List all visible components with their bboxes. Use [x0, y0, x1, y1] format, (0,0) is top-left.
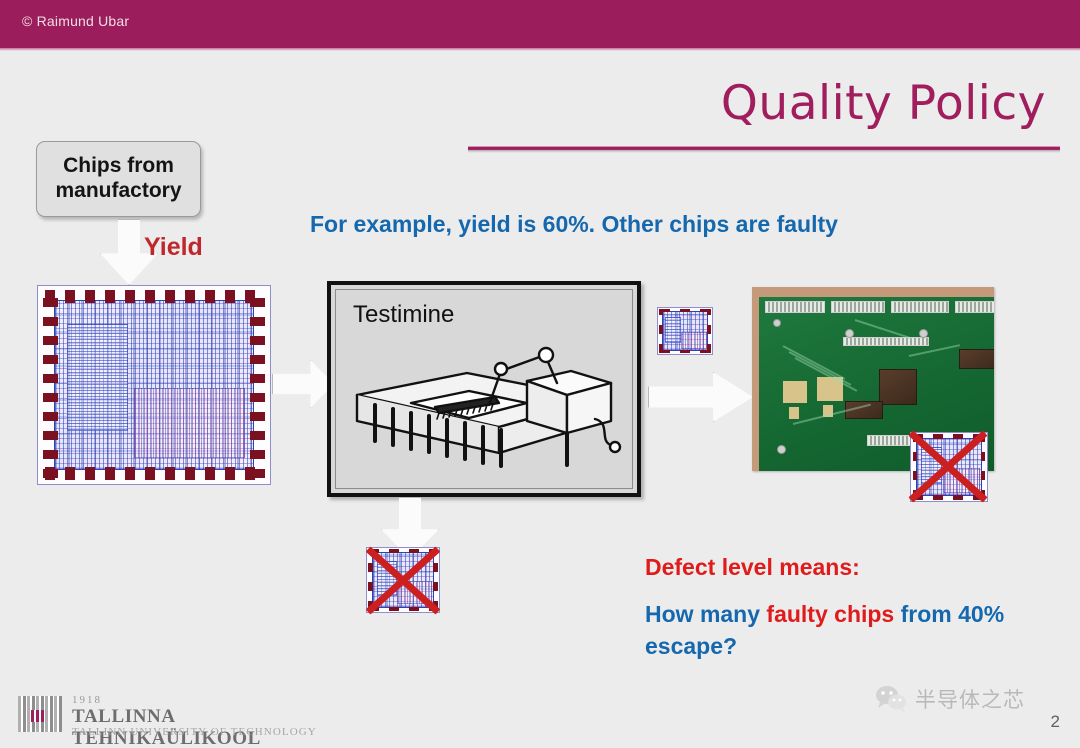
tested-die-pads-top: [660, 309, 711, 312]
header-underline: [0, 48, 1080, 51]
question-part-1: How many: [645, 601, 766, 627]
pcb-connector: [955, 301, 994, 313]
pcb-trace: [909, 344, 960, 357]
tested-die-pads-bottom: [660, 350, 711, 353]
yield-label: Yield: [144, 233, 203, 262]
pcb-mount-hole: [845, 329, 854, 338]
wechat-watermark: 半导体之芯: [875, 682, 1025, 716]
pcb-trace: [783, 345, 846, 380]
escaped-die-pads-bottom: [913, 495, 984, 499]
tested-chip-die-image: [657, 307, 713, 355]
die-pads-right: [250, 292, 265, 478]
die-pads-top: [45, 290, 263, 303]
test-machine-panel: Testimine: [327, 281, 641, 497]
escaped-die-pads-right: [981, 435, 986, 499]
rejected-chip-die-image: [366, 547, 440, 613]
die-pads-bottom: [45, 467, 263, 480]
pcb-jack: [789, 407, 799, 419]
pcb-mount-hole: [919, 329, 928, 338]
pcb-ic: [959, 349, 994, 369]
pcb-connector: [765, 301, 825, 313]
copyright-text: © Raimund Ubar: [22, 13, 129, 29]
tested-die-core: [662, 311, 708, 351]
header-band: [0, 0, 1080, 48]
chips-from-manufactory-box: Chips from manufactory: [36, 141, 201, 217]
die-core-layout: [54, 300, 254, 470]
defect-level-heading: Defect level means:: [645, 554, 860, 581]
wechat-account-name: 半导体之芯: [915, 684, 1025, 714]
title-divider-rule: [468, 146, 1060, 153]
page-title: Quality Policy: [721, 76, 1046, 131]
university-year: 1918: [72, 694, 102, 706]
logo-bars-icon: [18, 696, 62, 732]
defect-level-question: How many faulty chips from 40% escape?: [645, 598, 1005, 662]
pcb-main-ic: [879, 369, 917, 405]
pcb-mount-hole: [773, 319, 781, 327]
tested-die-pads-right: [707, 309, 711, 352]
rejected-die-pads-right: [433, 550, 438, 610]
slide-canvas: © Raimund Ubar Quality Policy Chips from…: [0, 0, 1080, 748]
escaped-die-core: [916, 438, 981, 497]
question-highlight: faulty chips: [766, 601, 894, 627]
chips-from-manufactory-label: Chips from manufactory: [37, 154, 200, 204]
page-number: 2: [1051, 712, 1060, 732]
chip-die-layout-image: [37, 285, 271, 485]
university-subtitle: TALLINN UNIVERSITY OF TECHNOLOGY: [72, 726, 317, 738]
pcb-mount-hole: [777, 445, 786, 454]
university-logo: 1918 TALLINNA TEHNIKAÜLIKOOL TALLINN UNI…: [18, 694, 328, 738]
pcb-transformer: [783, 381, 807, 403]
logo-bars-accent: [31, 710, 44, 722]
wechat-icon: [875, 685, 907, 713]
escaped-die-pads-top: [913, 434, 984, 438]
tested-die-pads-left: [659, 309, 663, 352]
rejected-die-pads-top: [369, 549, 437, 553]
pcb-connector: [831, 301, 885, 313]
yield-example-text: For example, yield is 60%. Other chips a…: [310, 211, 838, 238]
escaped-die-pads-left: [913, 435, 918, 499]
pcb-connector: [843, 337, 929, 346]
rejected-die-pads-left: [368, 550, 373, 610]
rejected-die-pads-bottom: [369, 607, 437, 611]
test-machine-drawing-icon: [349, 323, 629, 491]
rejected-die-core: [372, 552, 434, 607]
die-pads-left: [43, 292, 58, 478]
pcb-connector: [891, 301, 949, 313]
chips-to-tester-arrow-icon: [272, 360, 334, 408]
tested-to-board-arrow-icon: [648, 372, 753, 422]
escaped-faulty-chip-image: [910, 432, 988, 502]
